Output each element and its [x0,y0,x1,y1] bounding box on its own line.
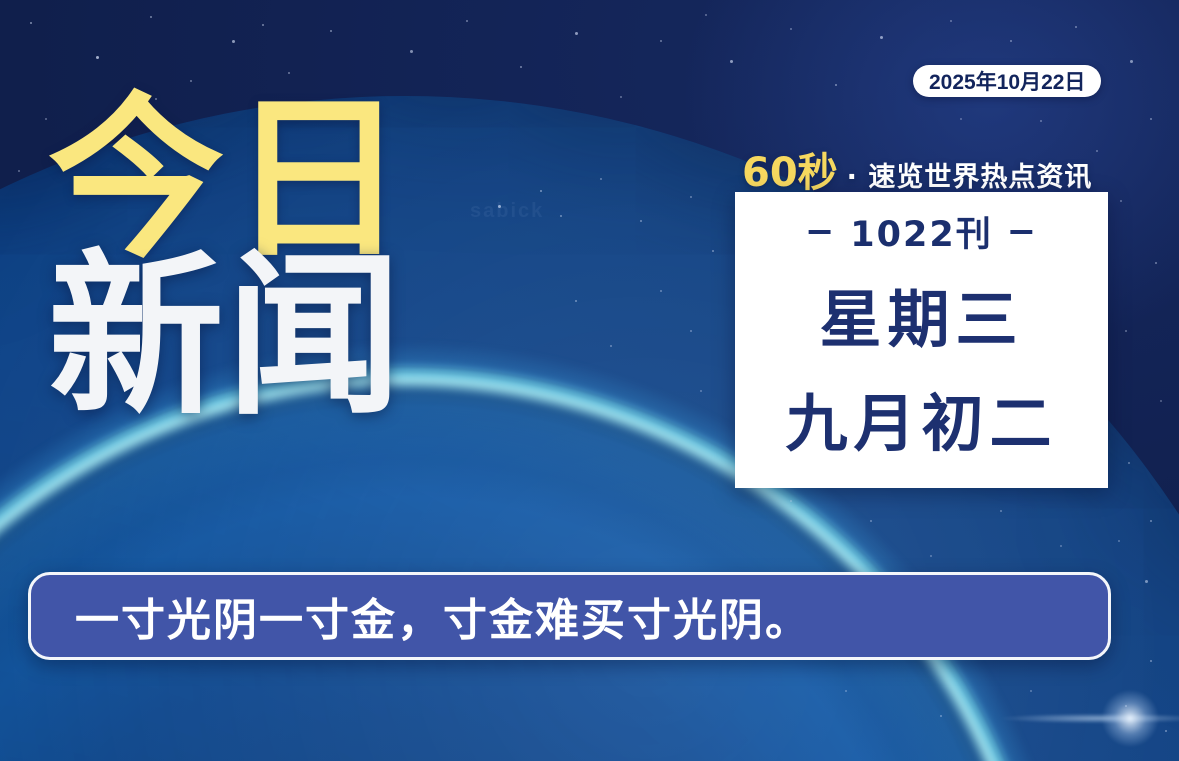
issue-number-row: − 1022刊 − [805,206,1038,257]
headline-line-2: 新闻 [48,253,412,422]
news-poster: sabick 今日 新闻 2025年10月22日 60秒 · 速览世界热点资讯 … [0,0,1179,761]
issue-number: 1022刊 [850,206,992,257]
weekday-label: 星期三 [819,269,1023,359]
quote-text: 一寸光阴一寸金，寸金难买寸光阴。 [75,584,811,648]
lunar-date-label: 九月初二 [785,373,1057,463]
quote-banner: 一寸光阴一寸金，寸金难买寸光阴。 [28,572,1111,660]
tagline: 60秒 · 速览世界热点资讯 [742,140,1092,198]
tagline-highlight: 60秒 [742,140,838,198]
tagline-rest: · 速览世界热点资讯 [847,155,1093,194]
background-watermark: sabick [470,200,544,223]
page-title: 今日 新闻 [48,96,412,422]
issue-dash-left: − [805,212,836,252]
issue-card: − 1022刊 − 星期三 九月初二 [735,192,1108,488]
date-badge: 2025年10月22日 [913,65,1101,97]
issue-dash-right: − [1007,212,1038,252]
